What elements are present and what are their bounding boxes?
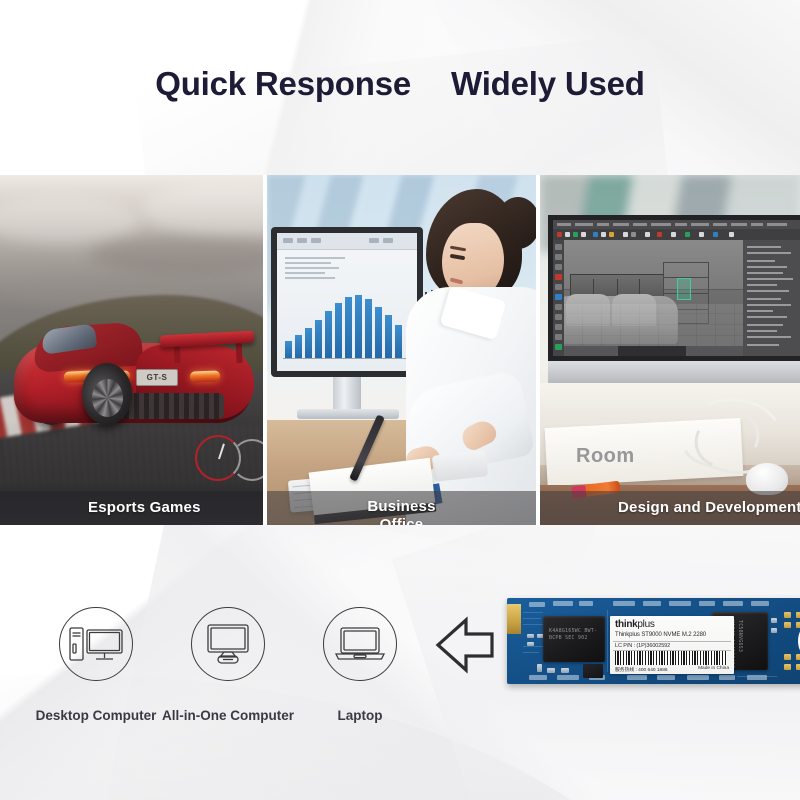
label-divider — [613, 641, 731, 642]
wheel-rim — [92, 379, 123, 417]
app-toolbar — [277, 233, 417, 250]
service-phone: 服务热线 : 400 640 1886 — [615, 666, 668, 673]
page-title: Quick ResponseWidely Used — [0, 62, 800, 106]
model-selected-object — [677, 278, 691, 300]
scenario-panel-business-office: 15:03 — [267, 175, 536, 525]
headline-part-quick-response: Quick Response — [155, 65, 411, 102]
cloud — [140, 183, 263, 235]
chart-axis — [283, 358, 407, 359]
scenario-caption-design-development: Design and Development — [540, 499, 800, 517]
nand-flash-chip: K4A8G165WC BWT-BCPB SEC 902 — [543, 616, 605, 662]
3d-app-menubar — [553, 220, 800, 229]
ssd-product-image: K4A8G165WC BWT-BCPB SEC 902 TC58NVG6S3 K… — [507, 598, 800, 684]
scenario-panel-esports-games: GT-S Esports Games — [0, 175, 263, 525]
caption-line-1: Business — [367, 498, 435, 515]
hud-needle — [218, 443, 225, 459]
product-marketing-page: Quick ResponseWidely Used — [0, 0, 800, 800]
product-part-number: LC P/N : (1P)36002592 — [615, 643, 670, 649]
ssd-edge-connector — [507, 604, 521, 634]
cloud — [90, 235, 263, 275]
brand-plus: plus — [637, 619, 654, 630]
3d-app-toolbar — [553, 229, 800, 240]
controller-chip — [583, 664, 603, 678]
3d-viewport — [564, 240, 743, 346]
3d-app-timeline — [564, 346, 743, 356]
monitor-screen — [548, 215, 800, 361]
origin-label: Made in China — [698, 666, 729, 671]
license-plate: GT-S — [136, 369, 178, 386]
scenario-panel-row: GT-S Esports Games — [0, 175, 800, 525]
ssd-product-label: thinkplus Thinkplus ST9000 NVME M.2 2280… — [610, 616, 734, 674]
bar-chart — [283, 281, 407, 359]
monitor-stand-neck — [333, 377, 361, 411]
headline-part-widely-used: Widely Used — [451, 65, 645, 102]
scenario-caption-business-office: Business Office — [267, 498, 536, 525]
headline-band: Quick ResponseWidely Used — [0, 0, 800, 175]
caption-line-2: Office — [380, 516, 424, 525]
scenario-panel-design-development: Room Design and Development — [540, 175, 800, 525]
barcode-icon — [615, 651, 727, 665]
brand-think: think — [615, 619, 637, 630]
design-monitor — [548, 215, 800, 383]
viewport-grid — [564, 304, 743, 346]
race-car: GT-S — [8, 309, 260, 441]
monitor-bezel-chin — [548, 361, 800, 383]
3d-app-properties-panel — [743, 240, 800, 356]
brand-logo: thinkplus — [615, 619, 655, 630]
spreadsheet-text-lines — [285, 257, 345, 282]
chip-marking: K4A8G165WC BWT-BCPB SEC 902 — [549, 628, 605, 642]
cloud — [0, 197, 140, 243]
product-model: Thinkplus ST9000 NVME M.2 2280 — [615, 632, 706, 638]
3d-app-tool-sidebar — [553, 240, 564, 356]
tail-light — [190, 370, 220, 382]
scenario-caption-esports-games: Esports Games — [0, 499, 263, 517]
ssd-pcb: K4A8G165WC BWT-BCPB SEC 902 TC58NVG6S3 K… — [507, 598, 800, 684]
car-wheel — [82, 363, 132, 425]
screen-overlay-label-room: Room — [576, 445, 635, 468]
